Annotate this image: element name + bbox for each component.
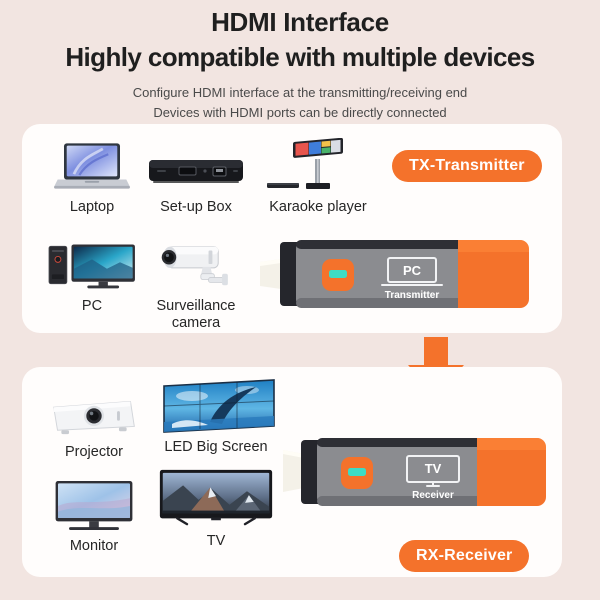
projector-icon <box>46 383 142 439</box>
device-label: Projector <box>46 444 142 461</box>
svg-text:Transmitter: Transmitter <box>385 290 440 301</box>
device-surveillance-camera: Surveillance camera <box>138 237 254 332</box>
page-subtitle-line-1: Configure HDMI interface at the transmit… <box>0 83 600 103</box>
rx-receiver-badge: RX-Receiver <box>399 540 529 572</box>
page-title-line-2: Highly compatible with multiple devices <box>0 41 600 75</box>
set-top-box-icon <box>138 138 254 194</box>
device-projector: Projector <box>46 383 142 461</box>
surveillance-camera-icon <box>138 237 254 293</box>
svg-text:PC: PC <box>403 263 422 278</box>
device-label: Set-up Box <box>138 199 254 216</box>
device-karaoke-player: Karaoke player <box>260 138 376 216</box>
device-set-up-box: Set-up Box <box>138 138 254 216</box>
laptop-icon <box>44 138 140 194</box>
device-led-big-screen: LED Big Screen <box>152 378 280 456</box>
television-icon <box>152 472 280 528</box>
page-title-line-1: HDMI Interface <box>0 6 600 39</box>
svg-text:TV: TV <box>425 461 442 476</box>
device-label: Karaoke player <box>260 199 376 216</box>
svg-text:Receiver: Receiver <box>412 490 454 501</box>
transmitter-dongle: PC Transmitter PC Transmitter <box>258 228 534 320</box>
page-subtitle-line-2: Devices with HDMI ports can be directly … <box>0 103 600 123</box>
device-pc: PC <box>44 237 140 315</box>
desktop-pc-icon <box>44 237 140 293</box>
device-monitor: Monitor <box>46 477 142 555</box>
karaoke-player-icon <box>260 138 376 194</box>
device-label: LED Big Screen <box>152 439 280 456</box>
device-label: TV <box>152 533 280 550</box>
page-header: HDMI Interface Highly compatible with mu… <box>0 0 600 124</box>
monitor-icon <box>46 477 142 533</box>
device-label: Monitor <box>46 538 142 555</box>
device-label: PC <box>44 298 140 315</box>
receiver-dongle: TV Receiver TV Receiver <box>281 428 547 518</box>
tx-transmitter-badge: TX-Transmitter <box>392 150 542 182</box>
led-video-wall-icon <box>152 378 280 434</box>
device-label: Surveillance camera <box>138 298 254 332</box>
device-label: Laptop <box>44 199 140 216</box>
device-tv: TV <box>152 472 280 550</box>
device-laptop: Laptop <box>44 138 140 216</box>
